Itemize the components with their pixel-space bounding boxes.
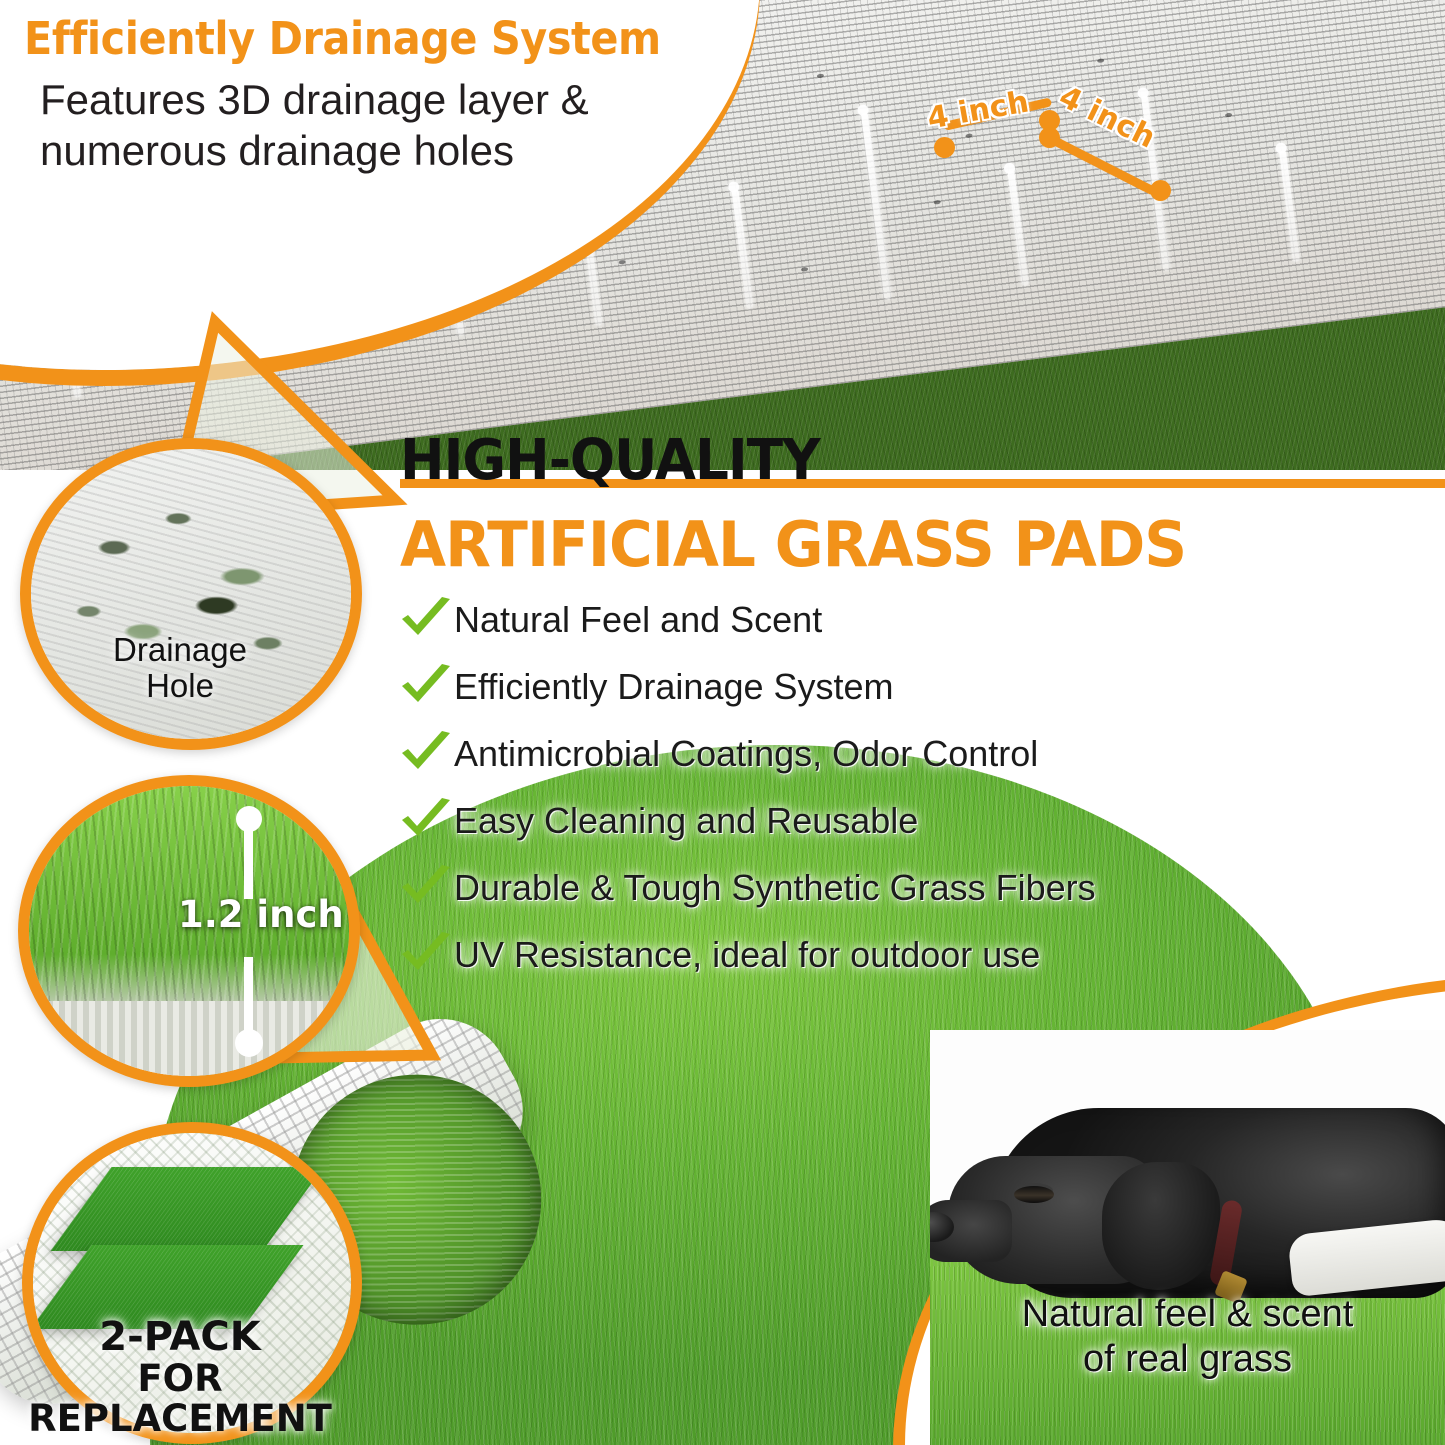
dimension-marker-icon [934,137,955,158]
dimension-marker-icon [1150,180,1171,201]
check-icon [398,731,454,777]
dog-caption-line-2: of real grass [930,1337,1445,1382]
page-subtitle: Features 3D drainage layer & numerous dr… [40,74,589,176]
subtitle-line-2: numerous drainage holes [40,125,589,176]
list-item: UV Resistance, ideal for outdoor use [398,921,1428,988]
two-pack-caption-line-2: FOR REPLACEMENT [0,1359,360,1439]
drainage-hole-caption-line-1: Drainage [20,632,340,668]
dog-chest-marking [1287,1217,1445,1297]
feature-list: Natural Feel and Scent Efficiently Drain… [398,586,1428,988]
feature-label: Easy Cleaning and Reusable [454,800,918,842]
dog-photo-frame [930,1030,1445,1445]
main-title: ARTIFICIAL GRASS PADS [400,508,1186,581]
dog-ear [1102,1162,1220,1290]
feature-label: Efficiently Drainage System [454,666,894,708]
list-item: Durable & Tough Synthetic Grass Fibers [398,854,1428,921]
dog-photo-caption: Natural feel & scent of real grass [930,1292,1445,1382]
list-item: Easy Cleaning and Reusable [398,787,1428,854]
list-item: Antimicrobial Coatings, Odor Control [398,720,1428,787]
drainage-hole-caption-line-2: Hole [20,668,340,704]
list-item: Natural Feel and Scent [398,586,1428,653]
feature-label: Natural Feel and Scent [454,599,822,641]
page-title: Efficiently Drainage System [24,12,661,65]
check-icon [398,597,454,643]
dog-caption-line-1: Natural feel & scent [930,1292,1445,1337]
feature-label: Antimicrobial Coatings, Odor Control [454,733,1038,775]
product-infographic: Efficiently Drainage System Features 3D … [0,0,1445,1445]
dog-eye [1014,1186,1054,1203]
drainage-hole-caption: Drainage Hole [20,632,340,703]
feature-label: UV Resistance, ideal for outdoor use [454,934,1040,976]
check-icon [398,664,454,710]
dog-body [990,1108,1445,1298]
thickness-label: 1.2 inch [178,893,344,936]
dog-photo [930,1030,1445,1445]
list-item: Efficiently Drainage System [398,653,1428,720]
two-pack-caption: 2-PACK FOR REPLACEMENT [0,1316,360,1439]
subtitle-line-1: Features 3D drainage layer & [40,74,589,125]
feature-label: Durable & Tough Synthetic Grass Fibers [454,867,1096,909]
two-pack-caption-line-1: 2-PACK [0,1316,360,1359]
